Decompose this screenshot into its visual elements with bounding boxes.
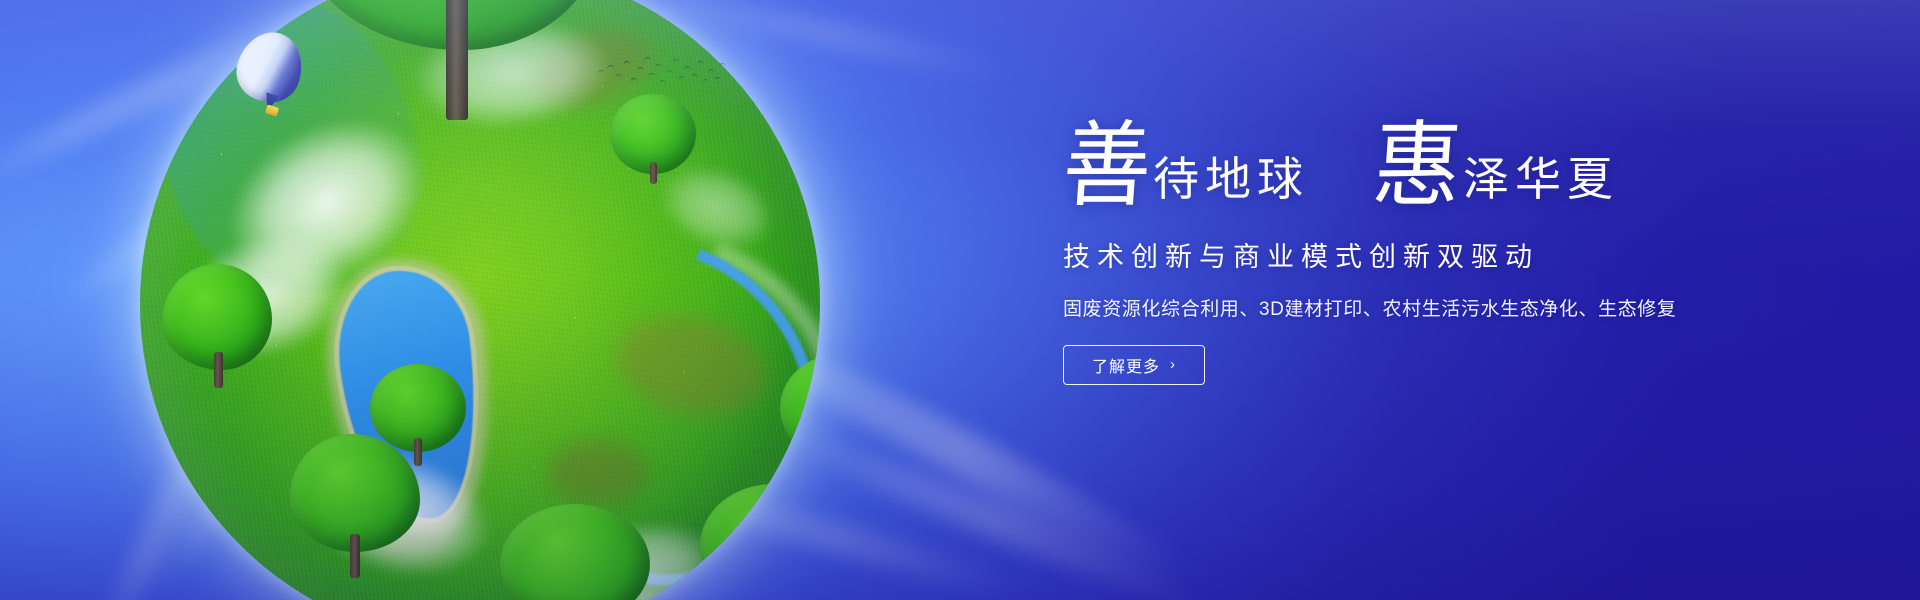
learn-more-label: 了解更多 xyxy=(1092,353,1160,377)
headline-phrase1-lead-char: 善 xyxy=(1060,126,1154,212)
banner-description: 固废资源化综合利用、3D建材打印、农村生活污水生态净化、生态修复 xyxy=(1063,294,1763,321)
hero-banner: 善 待地球 惠 泽华夏 技术创新与商业模式创新双驱动 固废资源化综合利用、3D建… xyxy=(0,0,1920,600)
headline-phrase1-rest: 待地球 xyxy=(1153,157,1309,209)
learn-more-button[interactable]: 了解更多 › xyxy=(1063,345,1205,385)
headline: 善 待地球 惠 泽华夏 xyxy=(1063,128,1763,209)
banner-subtitle: 技术创新与商业模式创新双驱动 xyxy=(1063,235,1763,274)
headline-phrase2-rest: 泽华夏 xyxy=(1463,157,1619,209)
headline-phrase2-lead-char: 惠 xyxy=(1370,126,1464,212)
banner-copy: 善 待地球 惠 泽华夏 技术创新与商业模式创新双驱动 固废资源化综合利用、3D建… xyxy=(1063,128,1763,385)
chevron-right-icon: › xyxy=(1170,357,1176,372)
